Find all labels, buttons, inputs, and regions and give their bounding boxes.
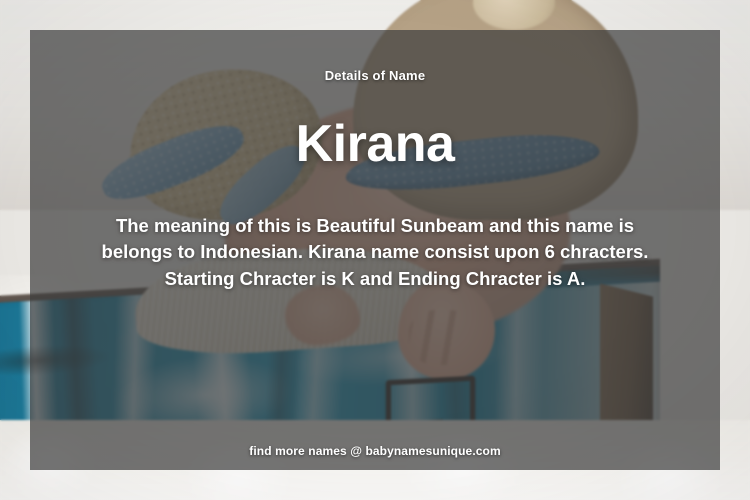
name-description: The meaning of this is Beautiful Sunbeam… <box>97 213 653 292</box>
page-title: Kirana <box>30 118 720 171</box>
card-kicker: Details of Name <box>30 68 720 83</box>
name-detail-card: Details of Name Kirana The meaning of th… <box>0 0 750 500</box>
text-overlay-panel: Details of Name Kirana The meaning of th… <box>30 30 720 470</box>
footer-attribution: find more names @ babynamesunique.com <box>30 444 720 458</box>
